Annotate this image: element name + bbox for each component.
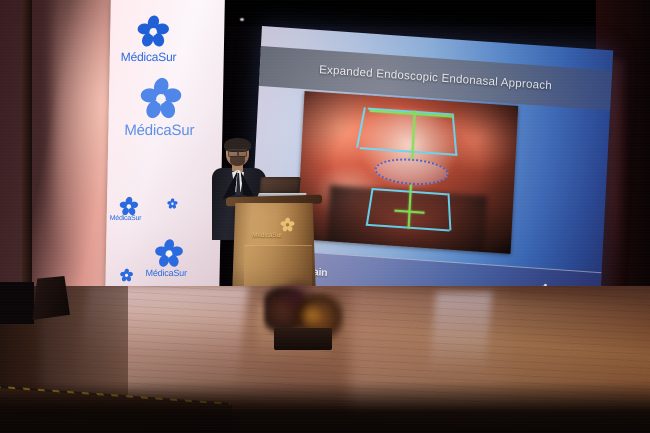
podium-wordmark: MédicaSur xyxy=(252,232,282,239)
endoscopic-image xyxy=(297,91,518,254)
flower-highlight xyxy=(298,304,324,326)
medicasur-flower-icon xyxy=(280,217,295,237)
medicasur-flower-icon xyxy=(119,196,139,216)
medicasur-flower-icon xyxy=(119,268,133,282)
speaker-beard xyxy=(230,156,245,166)
laptop-screen xyxy=(259,177,300,194)
foreground-shadow xyxy=(0,381,650,433)
wall-column xyxy=(22,0,32,298)
light-speck xyxy=(240,18,244,21)
banner-wordmark-large: MédicaSur xyxy=(121,50,177,64)
medicasur-flower-icon xyxy=(139,76,184,120)
medicasur-flower-icon xyxy=(136,14,171,48)
banner-wordmark-lower: MédicaSur xyxy=(146,268,187,278)
auditorium-scene: MédicaSur MédicaSur xyxy=(0,0,650,433)
floral-arrangement xyxy=(258,278,354,350)
medicasur-flower-icon xyxy=(167,198,178,209)
planter xyxy=(274,328,332,350)
banner-wordmark-medium: MédicaSur xyxy=(124,122,194,139)
eyeglasses-icon xyxy=(228,149,247,154)
medicasur-banner: MédicaSur MédicaSur xyxy=(105,0,225,296)
banner-wordmark-small: MédicaSur xyxy=(110,215,142,222)
medicasur-flower-icon xyxy=(154,238,185,268)
stage-left-shadow xyxy=(0,282,34,324)
